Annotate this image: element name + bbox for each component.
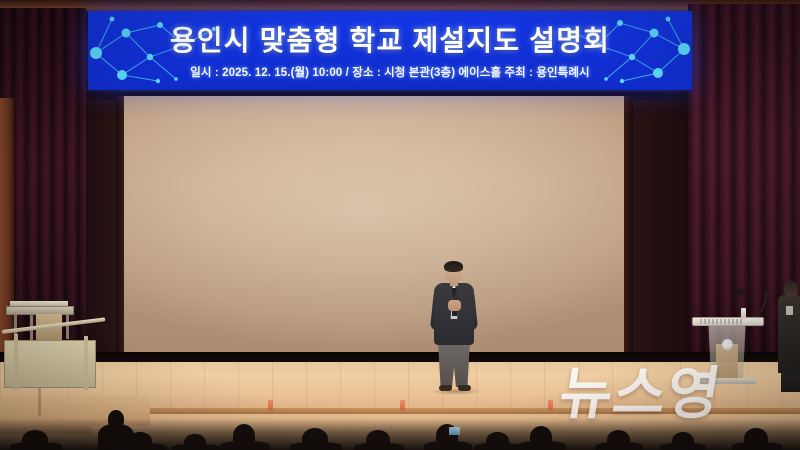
podium-emblem-icon [722,339,733,350]
audience-shoulders [172,444,220,450]
railing-post [14,334,18,390]
speaker-shoe-right [458,385,471,391]
podium-nameplate [700,319,742,324]
audience-shoulders [732,442,782,450]
speaker-hair [444,261,463,272]
speaker-shadow [430,388,482,395]
audience-shoulders [10,442,62,450]
floor-marker [548,400,553,410]
audience-phone-screen [449,427,460,435]
audience-shoulders [595,442,643,450]
railing-post [84,336,88,390]
audience-shoulders [660,443,706,450]
audience-shoulders [354,443,404,450]
news-watermark: 뉴스영 [555,366,724,423]
screen-frame-right [623,96,633,358]
standing-person-legs [781,370,800,392]
led-banner: 용인시 맞춤형 학교 제설지도 설명회 일시 : 2025. 12. 15.(월… [88,11,692,90]
podium-microphone-head [737,288,744,295]
standing-person-head [784,281,798,297]
audience-shoulders [290,442,342,450]
auditorium-photo: 용인시 맞춤형 학교 제설지도 설명회 일시 : 2025. 12. 15.(월… [0,0,800,450]
audience-shoulders-raised [98,424,134,450]
projection-screen [124,96,624,358]
standing-person-badge [786,306,793,315]
banner-subtitle: 일시 : 2025. 12. 15.(월) 10:00 / 장소 : 시청 본관… [88,64,692,80]
speaker-hands [448,300,461,311]
floor-marker [268,400,273,410]
audience-shoulders [424,441,472,450]
audience-shoulders [518,441,566,450]
floor-marker [400,400,405,410]
av-table-leg [66,315,69,339]
screen-surround-right [632,100,688,355]
audience-shoulders [474,443,522,450]
banner-title: 용인시 맞춤형 학교 제설지도 설명회 [88,19,692,59]
audience-shoulders [220,441,270,450]
speaker-shoe-left [439,385,452,391]
water-bottle [741,308,746,319]
